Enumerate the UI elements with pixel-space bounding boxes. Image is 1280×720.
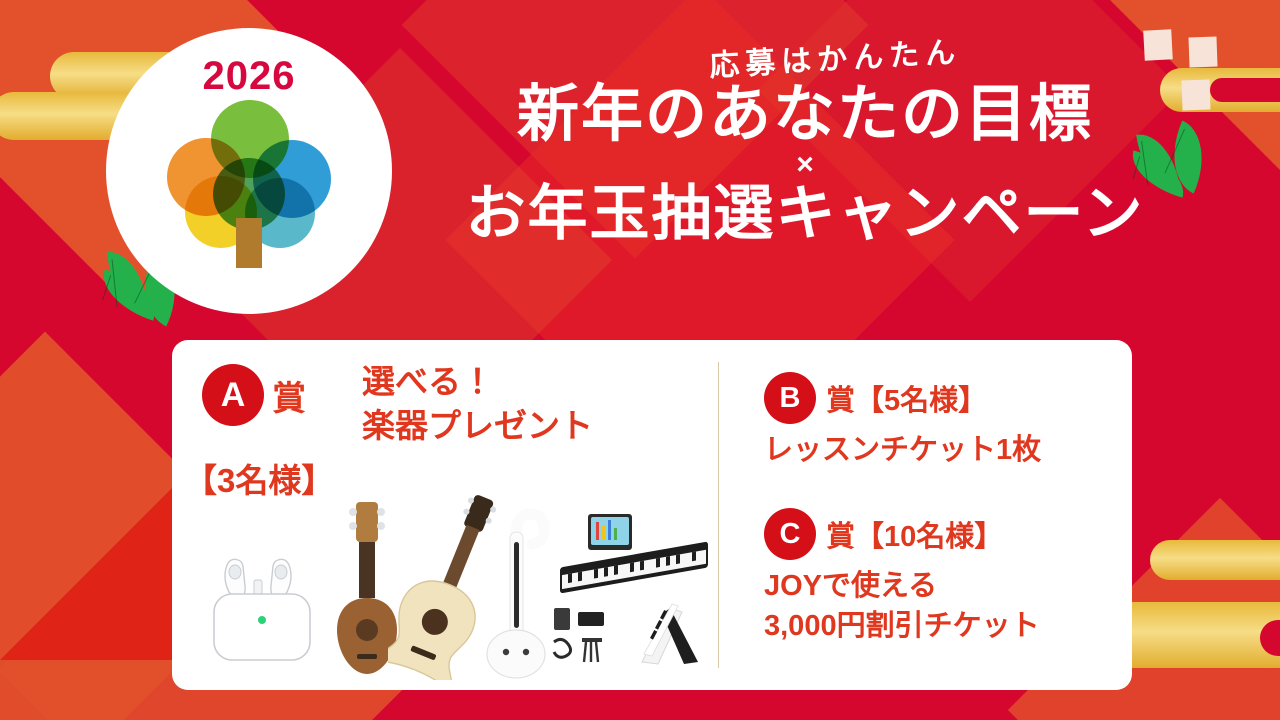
prize-a-section: A 賞 選べる！ 楽器プレゼント 【3名様】 (172, 340, 712, 690)
prize-b-badge: B (764, 372, 816, 424)
gold-cloud-bottom-right (1130, 540, 1280, 700)
prize-c-body-line-1: JOYで使える (764, 568, 1124, 606)
folding-digital-piano-icon (546, 512, 718, 676)
logo-year: 2026 (203, 56, 296, 96)
prize-c-badge: C (764, 508, 816, 560)
prize-a-header: A 賞 (202, 364, 306, 426)
prize-b-block: B 賞【5名様】 レッスンチケット1枚 (764, 372, 1124, 470)
prize-b-header: B 賞【5名様】 (764, 372, 1124, 424)
prize-a-description: 選べる！ 楽器プレゼント (362, 360, 593, 447)
airpods-icon (202, 542, 322, 668)
campaign-banner: 2026 応募はかんたん 新年のあなたの目標 × お年玉抽選キャンペーン A 賞… (0, 0, 1280, 720)
prize-c-head: 賞【10名様】 (826, 513, 1003, 555)
prize-b-head: 賞【5名様】 (826, 377, 987, 419)
brand-logo: 2026 (106, 28, 392, 314)
prize-a-description-line-2: 楽器プレゼント (362, 404, 593, 448)
headline-block: 応募はかんたん 新年のあなたの目標 × お年玉抽選キャンペーン (405, 34, 1205, 245)
prize-c-header: C 賞【10名様】 (764, 508, 1124, 560)
prize-bc-section: B 賞【5名様】 レッスンチケット1枚 C 賞【10名様】 JOYで使える 3,… (712, 340, 1130, 690)
prize-a-description-line-1: 選べる！ (362, 360, 593, 404)
prize-c-body-line-2: 3,000円割引チケット (764, 608, 1124, 646)
tree-trunk (236, 218, 262, 268)
headline-cross-icon: × (405, 150, 1205, 180)
tree-icon (161, 100, 337, 268)
prize-c-block: C 賞【10名様】 JOYで使える 3,000円割引チケット (764, 508, 1124, 645)
prize-a-badge: A (202, 364, 264, 426)
bg-triangle-bottom-left-dark (0, 470, 190, 660)
prize-a-instrument-images (192, 490, 712, 680)
prize-a-sho-label: 賞 (272, 371, 306, 420)
prize-card: A 賞 選べる！ 楽器プレゼント 【3名様】 (172, 340, 1132, 690)
headline-title-line-2: お年玉抽選キャンペーン (405, 182, 1205, 246)
prize-b-body: レッスンチケット1枚 (764, 432, 1124, 470)
